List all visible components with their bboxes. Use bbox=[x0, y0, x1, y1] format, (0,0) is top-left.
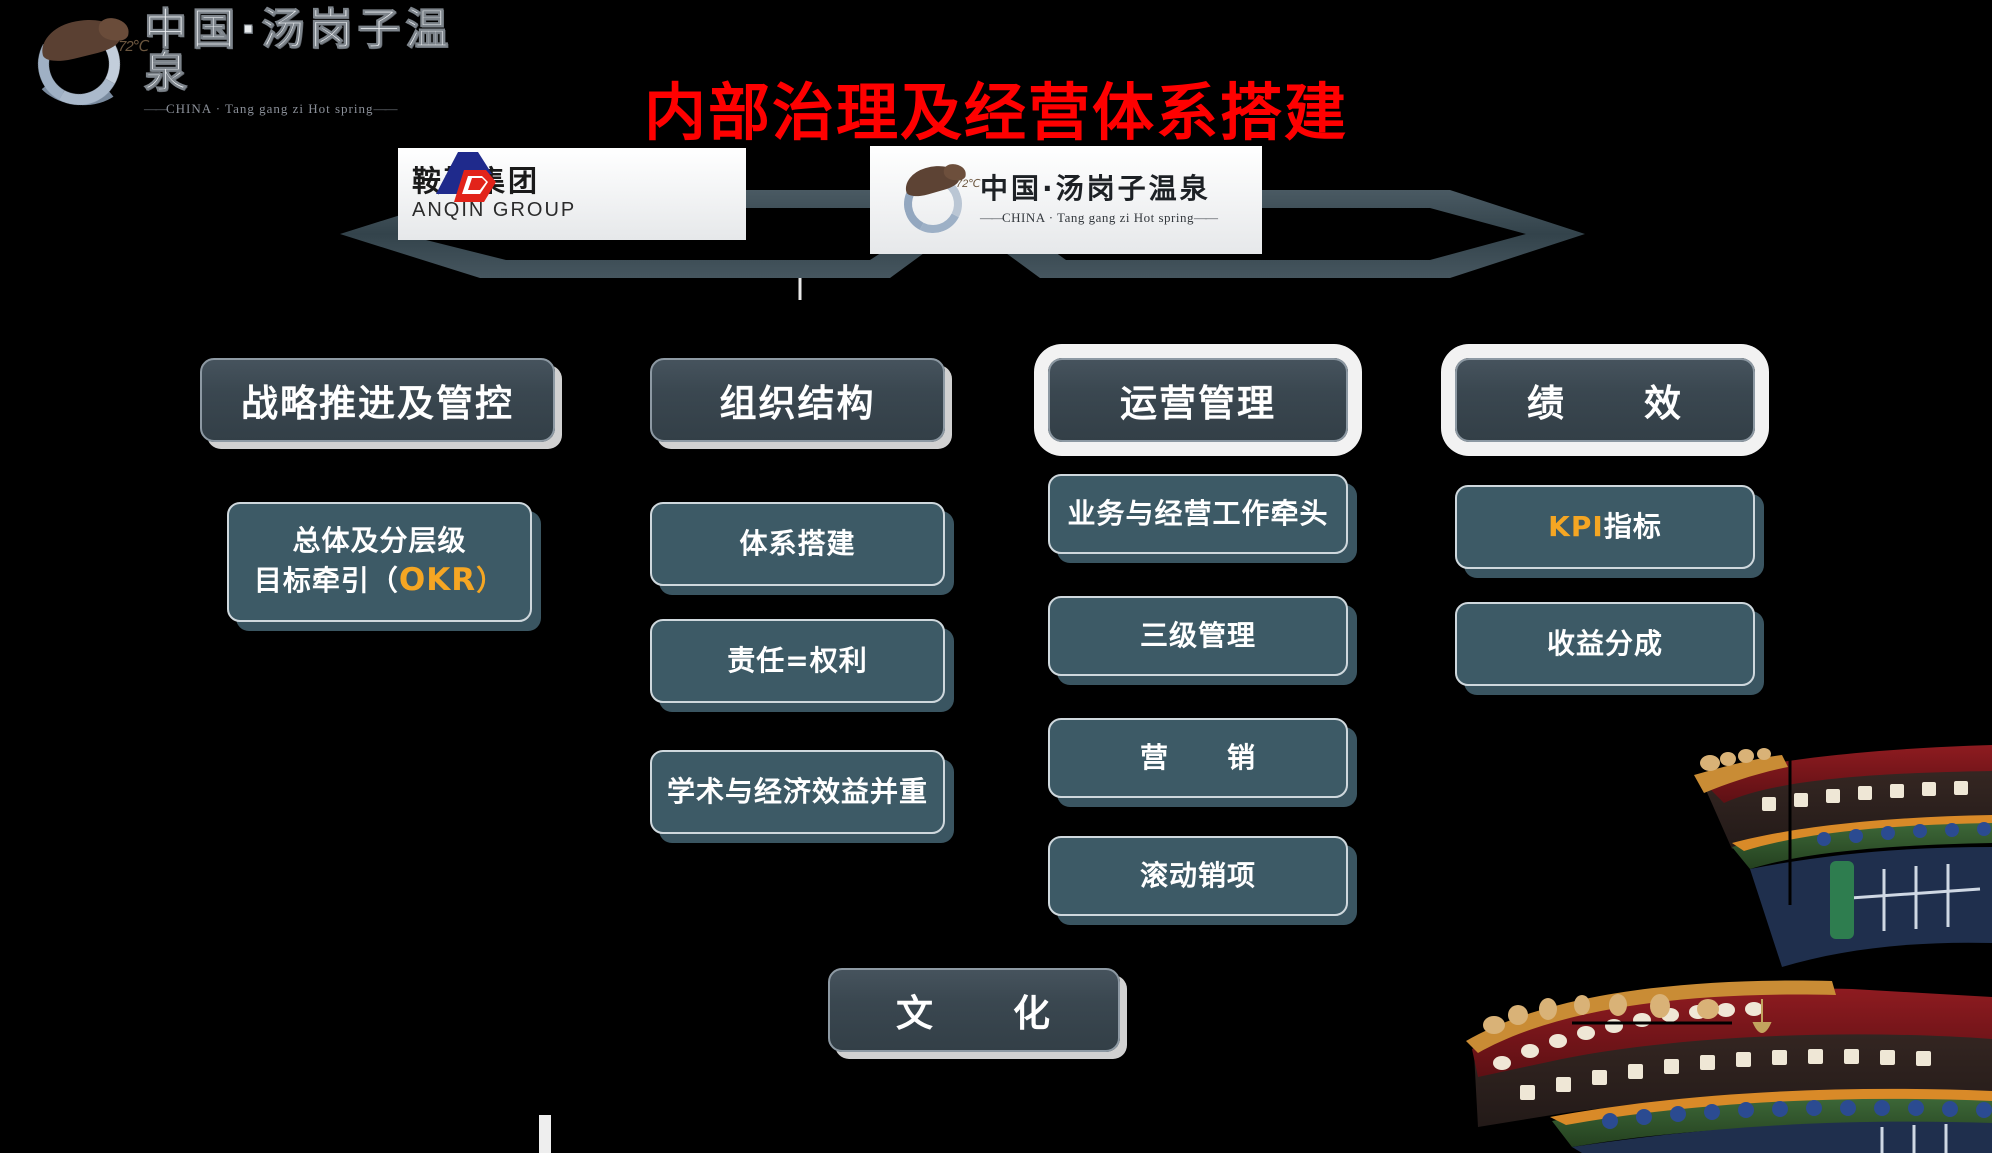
anqin-group-icon bbox=[434, 148, 500, 204]
footer-box-culture[interactable]: 文 化 bbox=[828, 968, 1120, 1052]
box-line-2a: 目标牵引（ bbox=[254, 562, 399, 600]
hot-spring-ring-icon: 72℃ bbox=[896, 163, 972, 237]
box-accent-okr: OKR bbox=[399, 560, 476, 602]
slide-root: 72℃ 中国·汤岗子温泉 CHINA · Tang gang zi Hot sp… bbox=[0, 0, 1992, 1153]
box-business-lead[interactable]: 业务与经营工作牵头 bbox=[1048, 474, 1348, 554]
page-title: 内部治理及经营体系搭建 bbox=[0, 62, 1992, 152]
box-academic-and-economic[interactable]: 学术与经济效益并重 bbox=[650, 750, 945, 834]
box-marketing[interactable]: 营 销 bbox=[1048, 718, 1348, 798]
bottom-marker bbox=[539, 1115, 551, 1153]
column-header-operations[interactable]: 运营管理 bbox=[1048, 358, 1348, 442]
hot-spring-logo-plate: 72℃ 中国·汤岗子温泉 CHINA · Tang gang zi Hot sp… bbox=[870, 146, 1262, 254]
chinese-temple-roof-icon bbox=[1432, 723, 1992, 1153]
temperature-mark: 72℃ bbox=[118, 37, 149, 55]
box-kpi-rest: 指标 bbox=[1604, 508, 1662, 546]
column-header-organization[interactable]: 组织结构 bbox=[650, 358, 945, 442]
column-header-performance[interactable]: 绩 效 bbox=[1455, 358, 1755, 442]
box-line-1: 总体及分层级 bbox=[292, 522, 466, 560]
box-revenue-sharing[interactable]: 收益分成 bbox=[1455, 602, 1755, 686]
box-system-build[interactable]: 体系搭建 bbox=[650, 502, 945, 586]
box-responsibility-equals-right[interactable]: 责任=权利 bbox=[650, 619, 945, 703]
hot-spring-logo-cn: 中国·汤岗子温泉 bbox=[980, 174, 1216, 205]
hot-spring-logo-en: CHINA · Tang gang zi Hot spring bbox=[980, 210, 1216, 226]
box-rolling-settlement[interactable]: 滚动销项 bbox=[1048, 836, 1348, 916]
column-header-strategy[interactable]: 战略推进及管控 bbox=[200, 358, 555, 442]
box-kpi[interactable]: KPI指标 bbox=[1455, 485, 1755, 569]
box-line-2c: ） bbox=[476, 562, 505, 600]
box-three-level-management[interactable]: 三级管理 bbox=[1048, 596, 1348, 676]
temperature-mark: 72℃ bbox=[956, 177, 981, 190]
anqin-group-logo-plate: 鞍勤集团 ANQIN GROUP bbox=[398, 148, 746, 240]
logo-chain-banner: 鞍勤集团 ANQIN GROUP 72℃ 中国·汤岗子温泉 CHINA · Ta… bbox=[330, 168, 1592, 300]
box-accent-kpi: KPI bbox=[1548, 508, 1604, 546]
box-strategy-okr[interactable]: 总体及分层级 目标牵引（ OKR ） bbox=[227, 502, 532, 622]
